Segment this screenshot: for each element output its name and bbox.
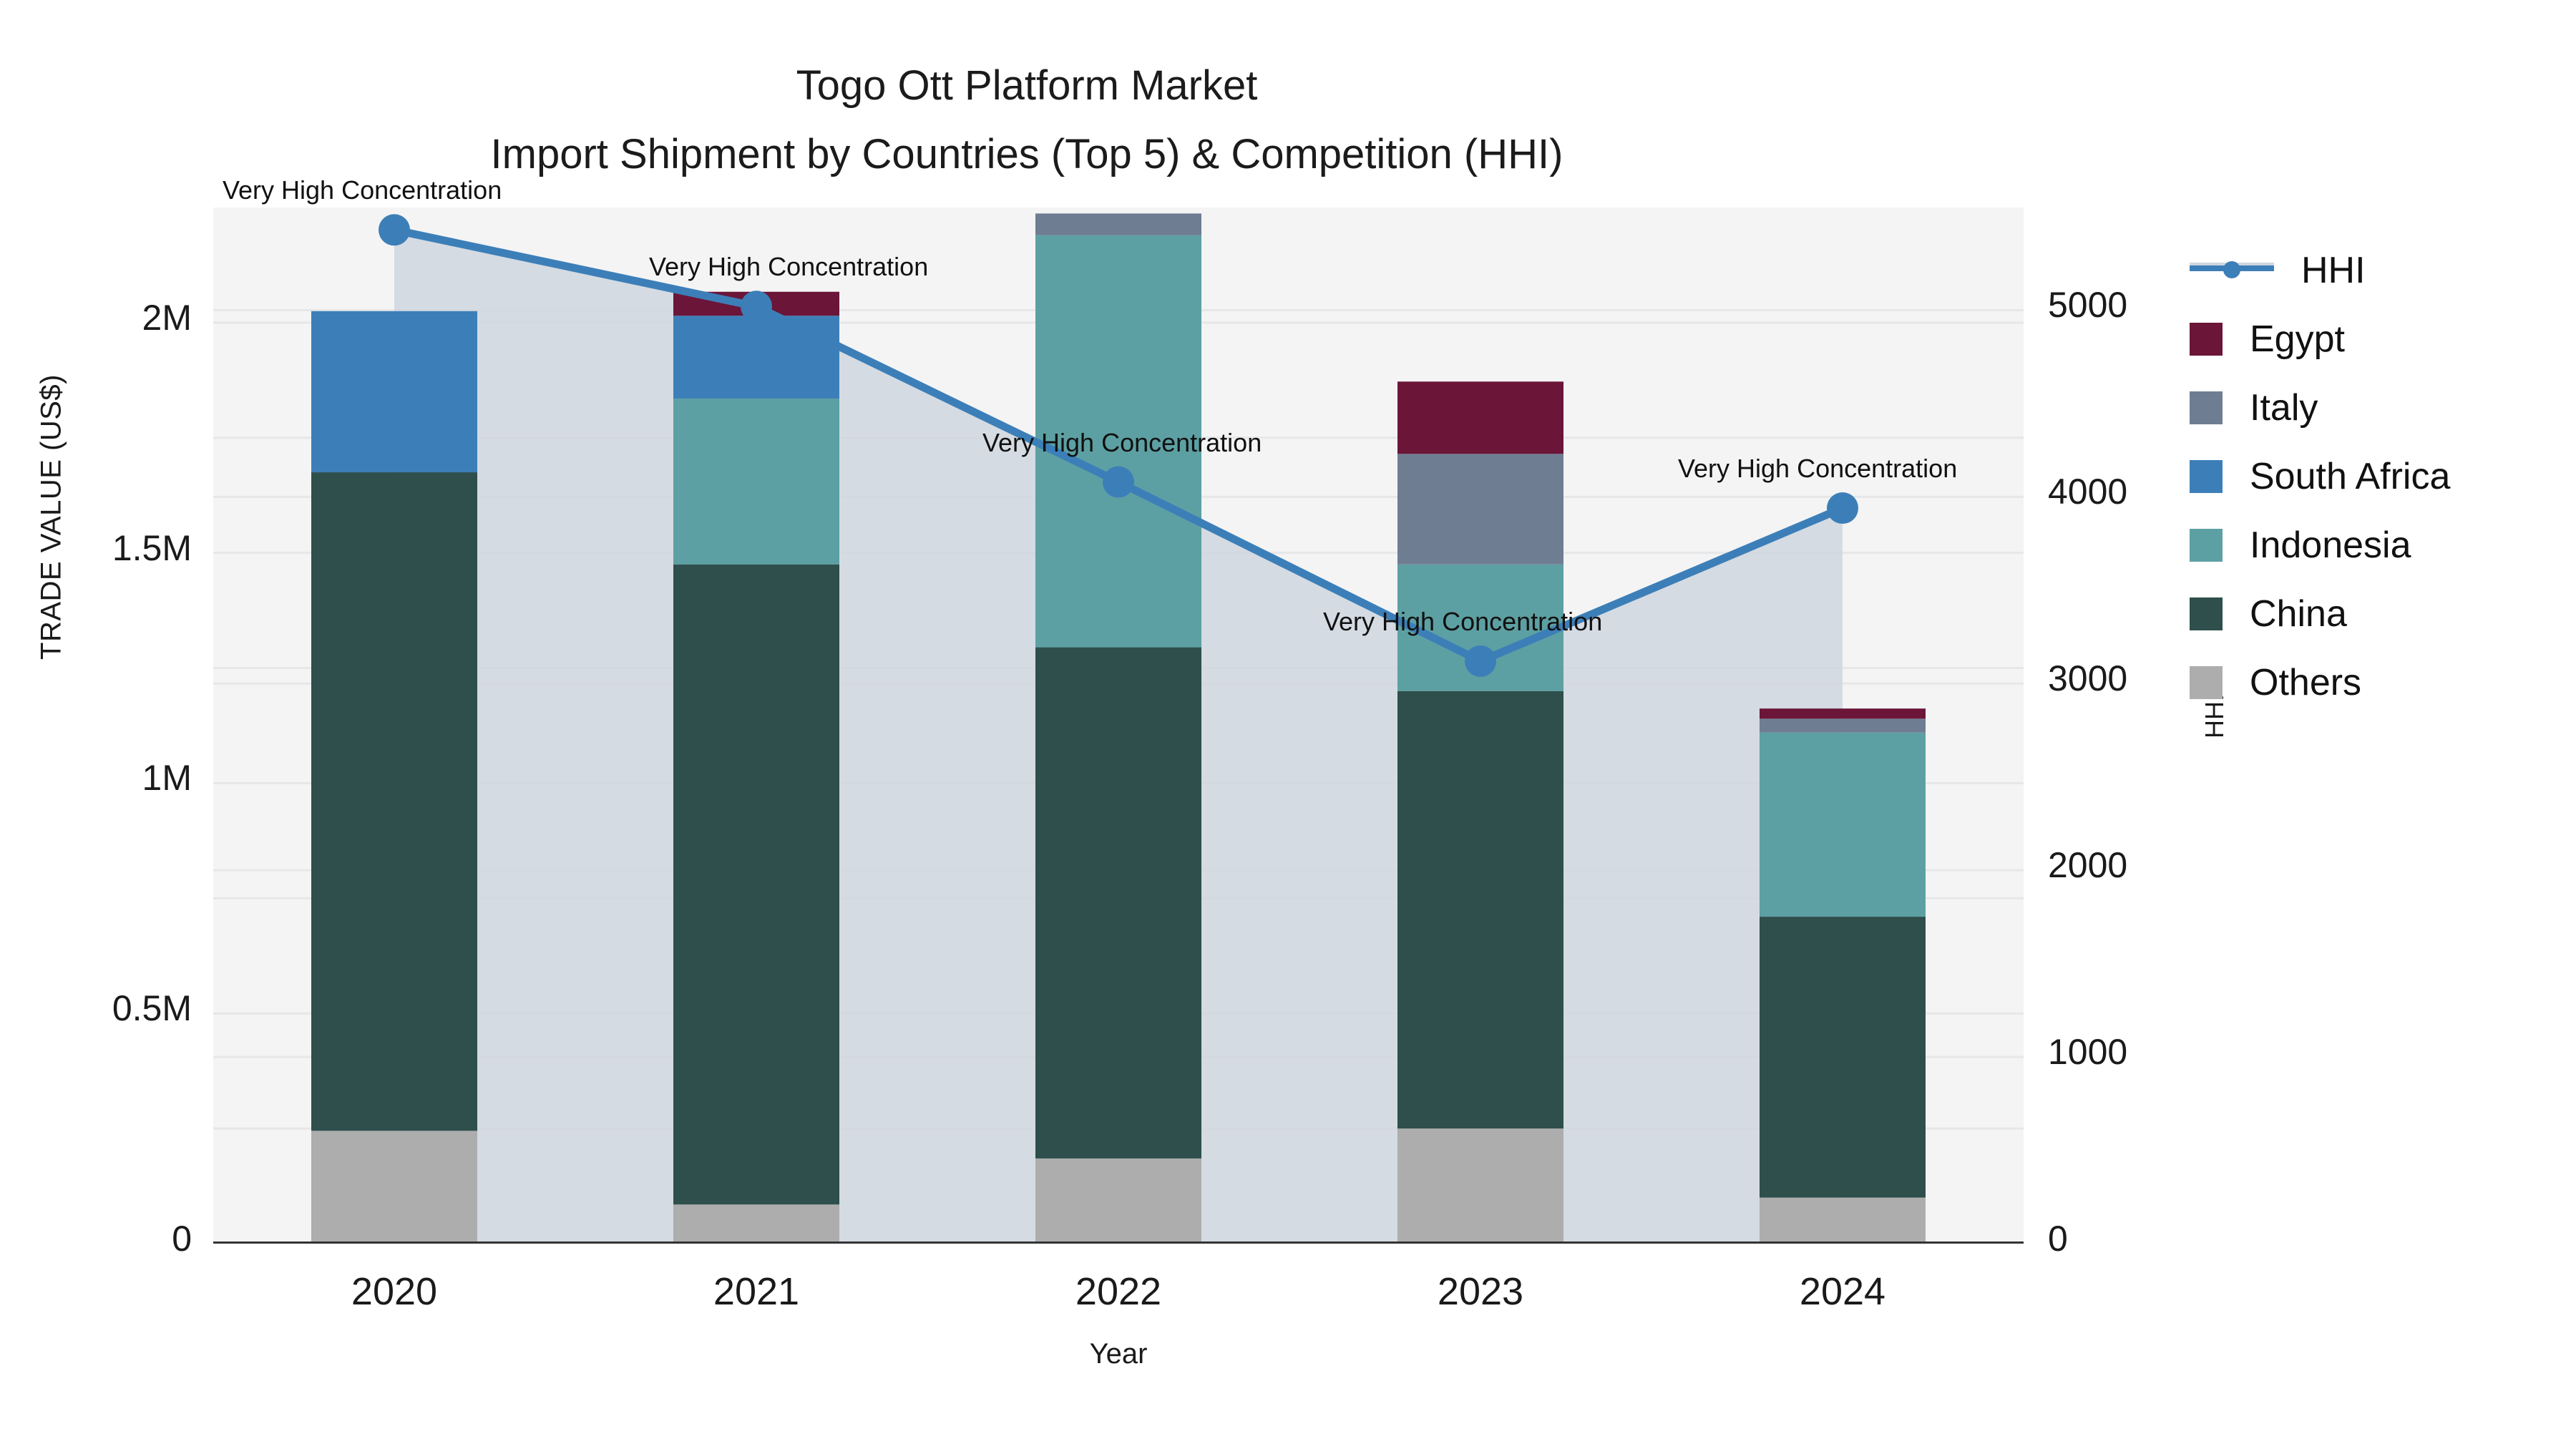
bar-segment-south-africa-2020[interactable]: [311, 311, 477, 472]
bar-segment-china-2024[interactable]: [1760, 917, 1926, 1198]
x-tick-label-2024: 2024: [1735, 1269, 1950, 1314]
legend-item-egypt[interactable]: Egypt: [2190, 305, 2576, 374]
bar-segment-others-2022[interactable]: [1035, 1158, 1201, 1244]
x-tick-label-2023: 2023: [1373, 1269, 1588, 1314]
bar-segment-egypt-2024[interactable]: [1760, 708, 1926, 718]
chart-page: Togo Ott Platform Market Import Shipment…: [0, 0, 2576, 1449]
legend-item-others[interactable]: Others: [2190, 648, 2576, 717]
bar-group-2022: [1035, 213, 1201, 1244]
y-tick-label-right: 1000: [2048, 1031, 2263, 1073]
legend-item-china[interactable]: China: [2190, 580, 2576, 648]
plot-area: [213, 208, 2024, 1244]
annotation-2020: Very High Concentration: [223, 175, 502, 205]
y-tick-label-left: 1.5M: [6, 527, 192, 569]
bar-group-2020: [311, 311, 477, 1244]
annotation-2023: Very High Concentration: [1323, 607, 1602, 637]
bar-segment-china-2022[interactable]: [1035, 648, 1201, 1158]
legend-label: HHI: [2301, 249, 2366, 292]
x-axis-title: Year: [213, 1338, 2024, 1370]
bar-segment-south-africa-2021[interactable]: [673, 316, 839, 399]
annotation-2021: Very High Concentration: [649, 252, 928, 282]
bar-segment-italy-2022[interactable]: [1035, 213, 1201, 235]
legend-item-italy[interactable]: Italy: [2190, 374, 2576, 442]
legend-dot-icon: [2223, 261, 2240, 278]
y-tick-label-left: 1M: [6, 757, 192, 799]
y-tick-label-right: 2000: [2048, 844, 2263, 886]
chart-svg: [213, 208, 2024, 1244]
legend-item-south-africa[interactable]: South Africa: [2190, 442, 2576, 511]
legend-color-swatch: [2190, 597, 2223, 630]
y-tick-label-left: 0: [6, 1218, 192, 1259]
legend-label: South Africa: [2250, 455, 2450, 498]
y-axis-left-title: TRADE VALUE (US$): [36, 303, 68, 732]
hhi-marker-2020[interactable]: [379, 214, 410, 245]
bar-segment-indonesia-2021[interactable]: [673, 399, 839, 565]
bar-group-2021: [673, 292, 839, 1244]
bar-segment-others-2020[interactable]: [311, 1131, 477, 1244]
hhi-marker-2021[interactable]: [741, 291, 772, 322]
legend-label: China: [2250, 592, 2347, 635]
hhi-marker-2023[interactable]: [1465, 645, 1496, 677]
legend-item-indonesia[interactable]: Indonesia: [2190, 511, 2576, 580]
annotation-2024: Very High Concentration: [1678, 454, 1957, 484]
bar-segment-china-2023[interactable]: [1397, 691, 1563, 1128]
annotation-2022: Very High Concentration: [982, 428, 1262, 458]
y-tick-label-right: 0: [2048, 1218, 2263, 1259]
x-tick-label-2020: 2020: [287, 1269, 502, 1314]
bar-segment-china-2020[interactable]: [311, 472, 477, 1131]
legend-color-swatch: [2190, 391, 2223, 424]
chart-legend: HHIEgyptItalySouth AfricaIndonesiaChinaO…: [2190, 236, 2576, 717]
legend-label: Egypt: [2250, 318, 2345, 361]
y-tick-label-left: 2M: [6, 297, 192, 338]
legend-color-swatch: [2190, 529, 2223, 562]
legend-label: Indonesia: [2250, 524, 2411, 567]
chart-title-block: Togo Ott Platform Market Import Shipment…: [0, 52, 2054, 189]
x-tick-label-2021: 2021: [649, 1269, 864, 1314]
hhi-marker-2024[interactable]: [1827, 492, 1858, 524]
legend-color-swatch: [2190, 666, 2223, 699]
legend-label: Others: [2250, 661, 2361, 704]
bar-group-2023: [1397, 381, 1563, 1244]
bar-group-2024: [1760, 708, 1926, 1244]
legend-item-hhi[interactable]: HHI: [2190, 236, 2576, 305]
x-tick-label-2022: 2022: [1011, 1269, 1226, 1314]
legend-color-swatch: [2190, 460, 2223, 493]
bar-segment-china-2021[interactable]: [673, 565, 839, 1205]
bar-segment-italy-2023[interactable]: [1397, 454, 1563, 564]
chart-title: Togo Ott Platform Market: [0, 52, 2054, 120]
bar-segment-others-2024[interactable]: [1760, 1198, 1926, 1244]
y-tick-label-left: 0.5M: [6, 987, 192, 1029]
legend-label: Italy: [2250, 386, 2318, 429]
bar-segment-others-2021[interactable]: [673, 1204, 839, 1244]
bar-segment-egypt-2023[interactable]: [1397, 381, 1563, 454]
bar-segment-italy-2024[interactable]: [1760, 718, 1926, 732]
hhi-marker-2022[interactable]: [1103, 467, 1134, 498]
bar-segment-others-2023[interactable]: [1397, 1128, 1563, 1244]
legend-line-marker-icon: [2190, 254, 2274, 287]
legend-color-swatch: [2190, 323, 2223, 356]
bar-segment-indonesia-2024[interactable]: [1760, 733, 1926, 917]
